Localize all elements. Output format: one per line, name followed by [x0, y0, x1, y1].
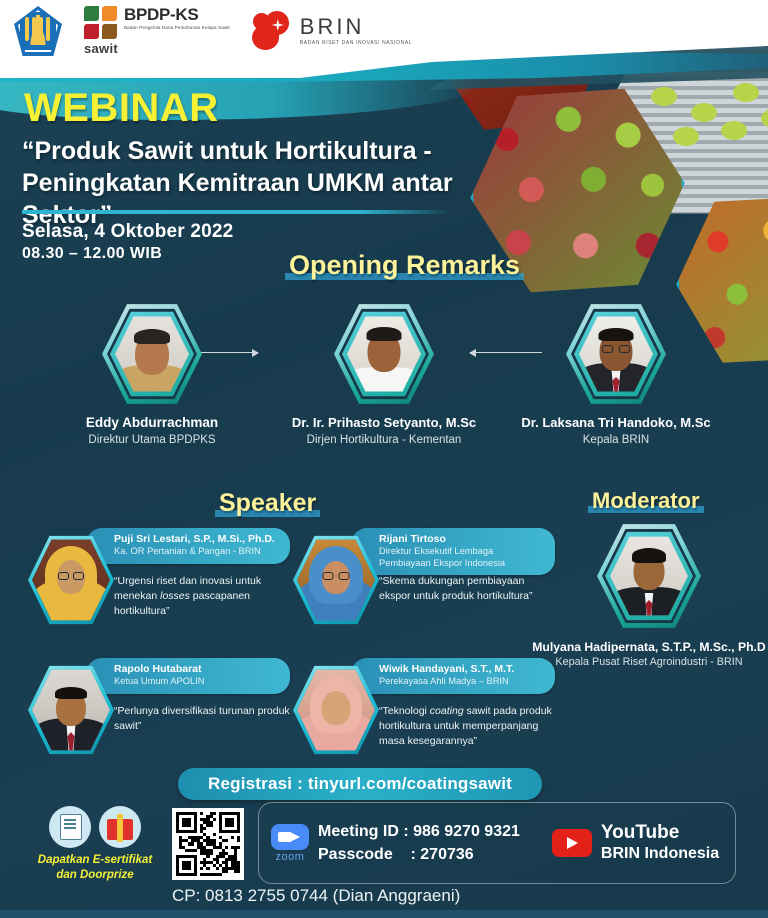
registration-qr-code[interactable] [172, 808, 244, 880]
youtube-play-icon [552, 829, 592, 857]
avatar [28, 534, 114, 626]
speaker-quote: “Perlunya diversifikasi turunan produk s… [114, 704, 290, 734]
speaker-card: Rijani Tirtoso Direktur Eksekutif Lembag… [293, 528, 555, 650]
webinar-title: “Produk Sawit untuk Hortikultura - Penin… [22, 135, 482, 231]
event-date: Selasa, 4 Oktober 2022 [22, 221, 233, 243]
opening-remark-person-2: Dr. Ir. Prihasto Setyanto, M.Sc Dirjen H… [284, 302, 484, 447]
speaker-name: Rapolo Hutabarat [114, 663, 282, 676]
opening-remark-person-1: Eddy Abdurrachman Direktur Utama BPDPKS [52, 302, 252, 448]
meeting-info-box: zoom Meeting ID : 986 9270 9321 Passcode… [258, 802, 736, 884]
speaker-name-pill: Rapolo Hutabarat Ketua Umum APOLIN [86, 658, 290, 694]
person-role: Dirjen Hortikultura - Kementan [284, 434, 484, 448]
speaker-card: Rapolo Hutabarat Ketua Umum APOLIN “Perl… [28, 658, 290, 780]
gift-icon [99, 806, 141, 848]
speaker-quote: “Teknologi coating sawit pada produk hor… [379, 704, 555, 749]
speaker-role: Ka. OR Pertanian & Pangan - BRIN [114, 546, 282, 558]
webinar-poster: sawit BPDP-KS Badan Pengelola Dana Perke… [0, 0, 768, 918]
registration-link[interactable]: Registrasi : tinyurl.com/coatingsawit [178, 768, 542, 800]
speaker-card: Wiwik Handayani, S.T., M.T. Perekayasa A… [293, 658, 555, 780]
section-heading-moderator: Moderator [588, 488, 704, 514]
person-role: Kepala BRIN [516, 434, 716, 448]
meeting-id: Meeting ID : 986 9270 9321 [318, 820, 520, 843]
section-heading-opening-remarks: Opening Remarks [285, 250, 524, 281]
title-divider [22, 210, 452, 214]
avatar [293, 534, 379, 626]
avatar [334, 302, 434, 406]
bpdp-wordmark: sawit [84, 41, 118, 56]
youtube-channel: BRIN Indonesia [601, 844, 719, 864]
brin-logo: BRIN BADAN RISET DAN INOVASI NASIONAL [252, 11, 412, 51]
speaker-name: Wiwik Handayani, S.T., M.T. [379, 663, 547, 676]
speaker-name: Puji Sri Lestari, S.P., M.Si., Ph.D. [114, 533, 282, 546]
brin-mark-icon [252, 11, 292, 51]
moderator-block: Mulyana Hadipernata, S.T.P., M.Sc., Ph.D… [530, 522, 768, 668]
person-name: Dr. Laksana Tri Handoko, M.Sc [516, 415, 716, 431]
zoom-label: zoom [271, 851, 309, 863]
moderator-role: Kepala Pusat Riset Agroindustri - BRIN [530, 656, 768, 668]
speaker-quote: “Skema dukungan pembiayaan ekspor untuk … [379, 574, 555, 604]
registration-label: Registrasi : tinyurl.com/coatingsawit [208, 774, 512, 794]
bpdp-title: BPDP-KS [124, 6, 230, 23]
award-text: Dapatkan E-sertifikat dan Doorprize [36, 853, 154, 883]
bpdp-mark [84, 6, 118, 39]
speaker-name: Rijani Tirtoso [379, 533, 547, 546]
avatar [28, 664, 114, 756]
meeting-passcode: Passcode : 270736 [318, 843, 520, 866]
speaker-name-pill: Puji Sri Lestari, S.P., M.Si., Ph.D. Ka.… [86, 528, 290, 564]
speaker-role: Ketua Umum APOLIN [114, 676, 282, 688]
event-datetime: Selasa, 4 Oktober 2022 08.30 – 12.00 WIB [22, 221, 233, 263]
logo-row: sawit BPDP-KS Badan Pengelola Dana Perke… [14, 6, 412, 56]
youtube-block[interactable]: YouTube BRIN Indonesia [552, 822, 719, 864]
brin-subtitle: BADAN RISET DAN INOVASI NASIONAL [300, 40, 412, 47]
contact-person: CP: 0813 2755 0744 (Dian Anggraeni) [172, 886, 460, 906]
speaker-role: Perekayasa Ahli Madya – BRIN [379, 676, 547, 688]
youtube-label: YouTube [601, 822, 719, 844]
speaker-name-pill: Wiwik Handayani, S.T., M.T. Perekayasa A… [351, 658, 555, 694]
zoom-camera-icon: zoom [271, 824, 309, 863]
bpdp-subtitle: Badan Pengelola Dana Perkebunan Kelapa S… [124, 25, 230, 31]
certificate-icon [49, 806, 91, 848]
bottom-strip [0, 910, 768, 918]
speaker-quote: “Urgensi riset dan inovasi untuk menekan… [114, 574, 290, 619]
opening-remarks-row: Eddy Abdurrachman Direktur Utama BPDPKS … [0, 302, 768, 477]
brin-title: BRIN [300, 16, 412, 38]
avatar [102, 302, 202, 406]
speaker-name-pill: Rijani Tirtoso Direktur Eksekutif Lembag… [351, 528, 555, 575]
speaker-card: Puji Sri Lestari, S.P., M.Si., Ph.D. Ka.… [28, 528, 290, 650]
award-block: Dapatkan E-sertifikat dan Doorprize [36, 806, 154, 883]
section-heading-speaker: Speaker [215, 489, 320, 518]
zoom-block: zoom Meeting ID : 986 9270 9321 Passcode… [271, 820, 520, 866]
webinar-eyebrow: WEBINAR [24, 86, 219, 131]
kementerian-pertanian-logo [14, 6, 62, 56]
speaker-role: Direktur Eksekutif Lembaga Pembiayaan Ek… [379, 546, 547, 569]
person-name: Dr. Ir. Prihasto Setyanto, M.Sc [284, 415, 484, 431]
person-role: Direktur Utama BPDPKS [52, 434, 252, 448]
bpdp-ks-logo: sawit BPDP-KS Badan Pengelola Dana Perke… [84, 6, 230, 56]
person-name: Eddy Abdurrachman [52, 415, 252, 431]
avatar [293, 664, 379, 756]
avatar [566, 302, 666, 406]
event-time: 08.30 – 12.00 WIB [22, 245, 233, 263]
opening-remark-person-3: Dr. Laksana Tri Handoko, M.Sc Kepala BRI… [516, 302, 716, 447]
avatar [597, 522, 701, 630]
moderator-name: Mulyana Hadipernata, S.T.P., M.Sc., Ph.D [530, 640, 768, 654]
